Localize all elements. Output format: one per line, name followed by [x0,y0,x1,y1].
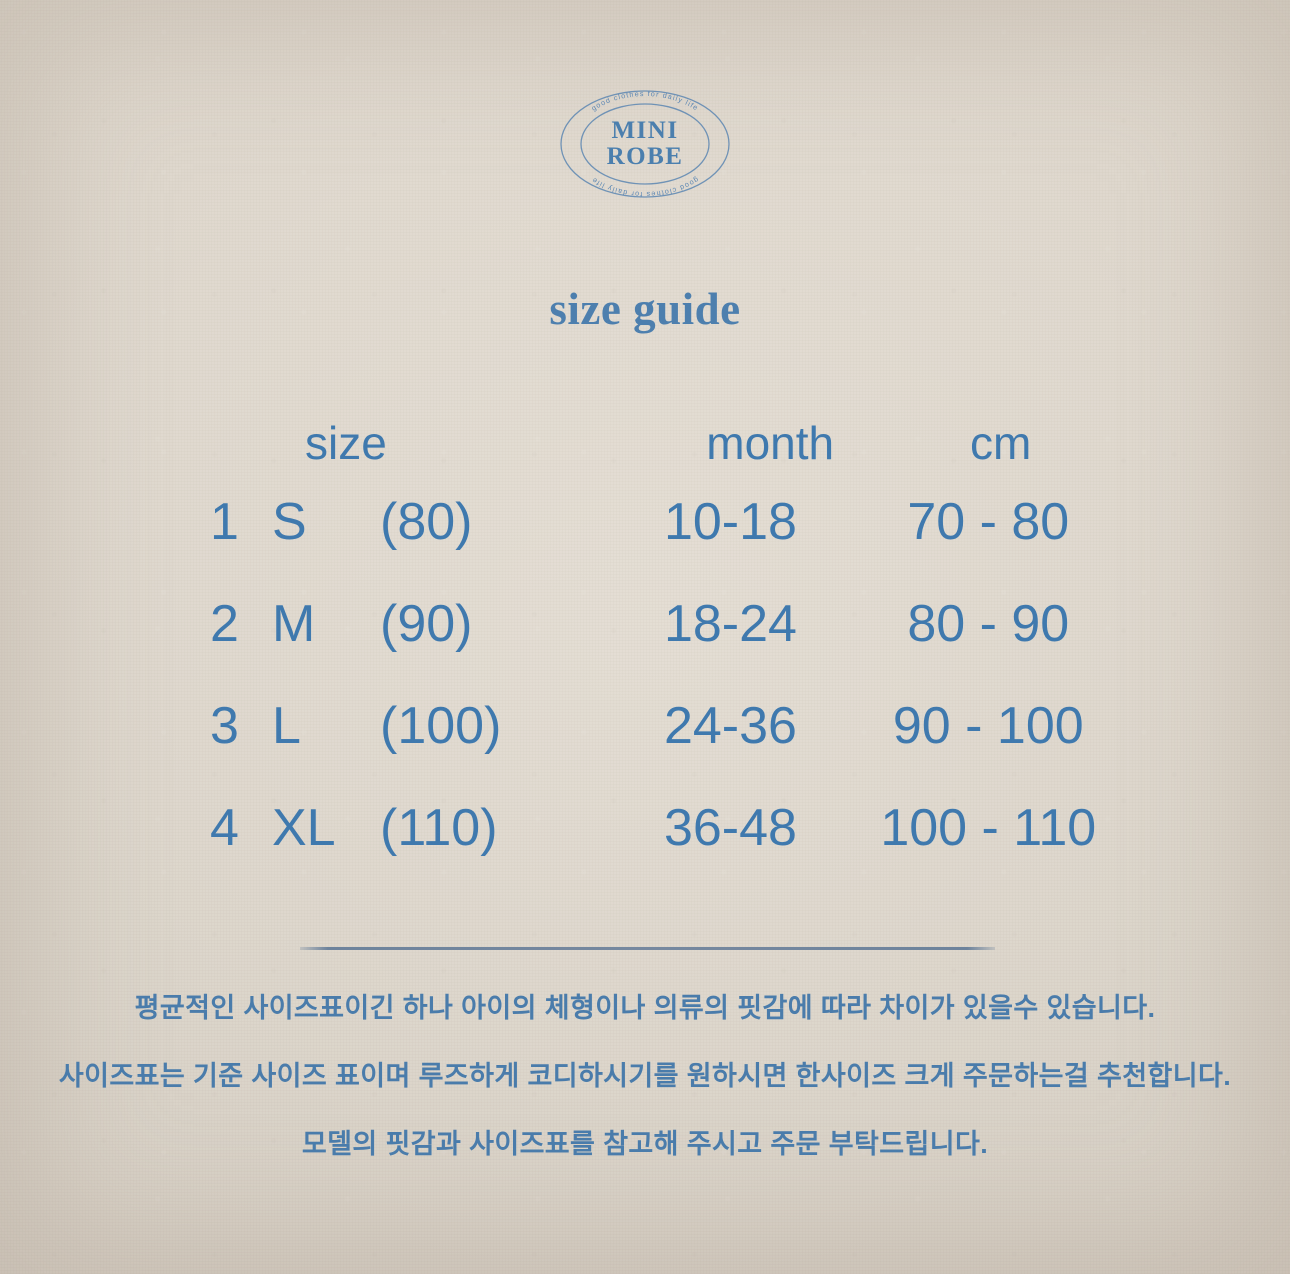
header-cell-cm: cm [896,416,1105,470]
cell-cm: 90 - 100 [872,696,1105,756]
table-row: 4 XL (110) 36-48 100 - 110 [185,798,1105,900]
cell-size-number: 1 [210,492,272,552]
cell-month: 10-18 [589,492,871,552]
header-cell-size: size [185,416,644,470]
svg-text:good clothes for daily life: good clothes for daily life [589,175,700,199]
table-row: 1 S (80) 10-18 70 - 80 [185,492,1105,594]
table-row: 2 M (90) 18-24 80 - 90 [185,594,1105,696]
cell-size: 4 XL (110) [185,798,589,858]
cell-size-number: 3 [210,696,272,756]
brand-logo: good clothes for daily life good clothes… [0,88,1290,200]
oval-stamp-icon: good clothes for daily life good clothes… [558,88,732,200]
header-cell-month: month [644,416,896,470]
note-line: 모델의 핏감과 사이즈표를 참고해 주시고 주문 부탁드립니다. [0,1131,1290,1158]
cell-month: 36-48 [589,798,871,858]
cell-size-letter: M [272,594,380,654]
note-line: 평균적인 사이즈표이긴 하나 아이의 체형이나 의류의 핏감에 따라 차이가 있… [0,995,1290,1022]
cell-size-letter: XL [272,798,380,858]
table-header-row: size month cm [185,416,1105,492]
note-line: 사이즈표는 기준 사이즈 표이며 루즈하게 코디하시기를 원하시면 한사이즈 크… [0,1063,1290,1090]
cell-month: 24-36 [589,696,871,756]
cell-cm: 70 - 80 [872,492,1105,552]
cell-size-number: 4 [210,798,272,858]
cell-size-number: 2 [210,594,272,654]
cell-size-paren: (80) [380,492,580,552]
cell-size: 3 L (100) [185,696,589,756]
cell-month: 18-24 [589,594,871,654]
size-guide-page: good clothes for daily life good clothes… [0,0,1290,1274]
cell-size: 1 S (80) [185,492,589,552]
cell-size-paren: (110) [380,798,580,858]
cell-size-letter: L [272,696,380,756]
cell-cm: 80 - 90 [872,594,1105,654]
table-row: 3 L (100) 24-36 90 - 100 [185,696,1105,798]
svg-text:good clothes for daily life: good clothes for daily life [589,89,700,113]
cell-size-letter: S [272,492,380,552]
cell-size-paren: (90) [380,594,580,654]
size-table: size month cm 1 S (80) 10-18 70 - 80 2 M… [185,416,1105,900]
section-divider [300,947,995,950]
cell-cm: 100 - 110 [872,798,1105,858]
cell-size-paren: (100) [380,696,580,756]
page-title: size guide [0,283,1290,335]
cell-size: 2 M (90) [185,594,589,654]
notes-section: 평균적인 사이즈표이긴 하나 아이의 체형이나 의류의 핏감에 따라 차이가 있… [0,995,1290,1199]
